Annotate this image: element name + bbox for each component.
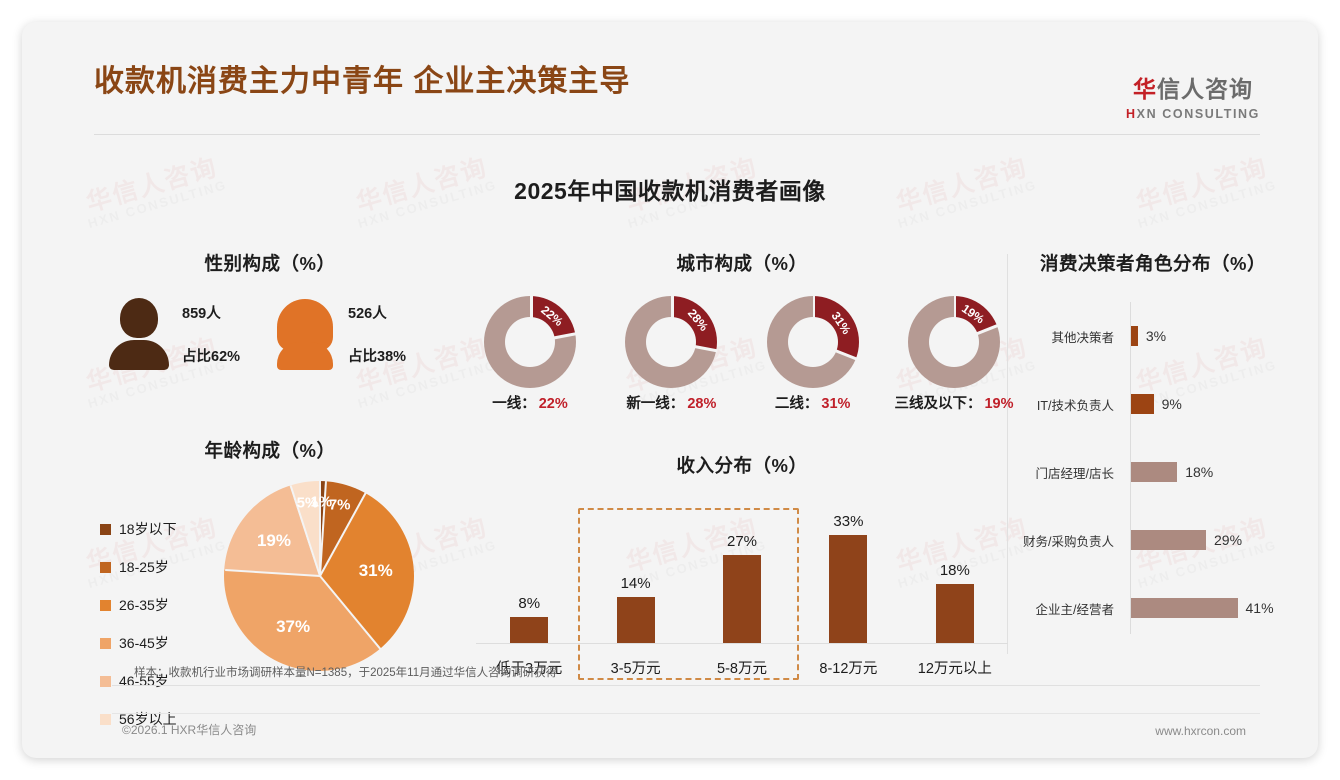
income-bar-value: 8% bbox=[518, 595, 540, 612]
legend-swatch bbox=[100, 638, 111, 649]
income-plot: 8%14%27%33%18% 低于3万元3-5万元5-8万元8-12万元12万元… bbox=[462, 500, 1022, 680]
donut-caption: 新一线：28% bbox=[607, 392, 735, 413]
footer-divider bbox=[112, 713, 1260, 714]
donut-caption-value: 22% bbox=[539, 396, 568, 412]
page-title: 收款机消费主力中青年 企业主决策主导 bbox=[94, 56, 630, 100]
role-value: 3% bbox=[1146, 328, 1166, 344]
roles-plot: 其他决策者3%IT/技术负责人9%门店经理/店长18%财务/采购负责人29%企业… bbox=[1022, 302, 1284, 642]
donut-chart: 28% bbox=[625, 296, 717, 388]
role-label: 企业主/经营者 bbox=[1022, 599, 1122, 618]
donut-caption-label: 新一线： bbox=[626, 396, 684, 412]
role-row: 企业主/经营者41% bbox=[1022, 574, 1284, 642]
gender-female-text: 526人 占比38% bbox=[348, 302, 406, 366]
donut-caption: 三线及以下：19% bbox=[890, 392, 1018, 413]
role-value: 9% bbox=[1162, 396, 1182, 412]
gender-male-count: 859人 bbox=[182, 302, 240, 323]
legend-swatch bbox=[100, 524, 111, 535]
role-row: 其他决策者3% bbox=[1022, 302, 1284, 370]
pie-slice-divider bbox=[225, 569, 320, 577]
income-bar bbox=[829, 535, 867, 643]
age-title: 年龄构成（%） bbox=[100, 437, 440, 463]
city-donut-item: 22%一线：22% bbox=[466, 296, 594, 413]
income-bar-column: 8% bbox=[476, 493, 582, 643]
income-bar-column: 27% bbox=[689, 493, 795, 643]
female-person-icon bbox=[274, 298, 336, 370]
role-label: IT/技术负责人 bbox=[1022, 395, 1122, 414]
logo-cn-red: 华 bbox=[1133, 76, 1157, 102]
legend-swatch bbox=[100, 562, 111, 573]
roles-panel: 消费决策者角色分布（%） 其他决策者3%IT/技术负责人9%门店经理/店长18%… bbox=[1022, 250, 1284, 642]
age-legend-item: 18-25岁 bbox=[100, 557, 218, 577]
roles-rows: 其他决策者3%IT/技术负责人9%门店经理/店长18%财务/采购负责人29%企业… bbox=[1022, 302, 1284, 642]
donut-chart: 22% bbox=[484, 296, 576, 388]
legend-swatch bbox=[100, 600, 111, 611]
donut-hole bbox=[505, 317, 555, 367]
city-title: 城市构成（%） bbox=[462, 250, 1022, 276]
roles-axis-line bbox=[1130, 302, 1131, 634]
city-donut-item: 28%新一线：28% bbox=[607, 296, 735, 413]
age-legend: 18岁以下18-25岁26-35岁36-45岁46-55岁56岁以上 bbox=[100, 481, 218, 747]
age-legend-label: 18-25岁 bbox=[119, 557, 169, 577]
age-pie-circle: 1%7%31%37%19%5% bbox=[224, 481, 414, 671]
income-bar-column: 14% bbox=[582, 493, 688, 643]
pie-slice-divider bbox=[319, 575, 381, 649]
donut-hole bbox=[929, 317, 979, 367]
gender-male-text: 859人 占比62% bbox=[182, 302, 240, 366]
role-bar bbox=[1130, 394, 1154, 414]
income-bar-column: 33% bbox=[795, 493, 901, 643]
donut-chart: 19% bbox=[908, 296, 1000, 388]
age-legend-item: 18岁以下 bbox=[100, 519, 218, 539]
role-bar-track: 18% bbox=[1122, 462, 1284, 482]
income-bar-value: 33% bbox=[833, 513, 863, 530]
gender-item-male: 859人 占比62% bbox=[108, 298, 274, 370]
income-bar bbox=[936, 584, 974, 643]
role-value: 18% bbox=[1185, 464, 1213, 480]
gender-panel: 性别构成（%） 859人 占比62% 526人 占 bbox=[100, 250, 440, 370]
donut-caption-value: 28% bbox=[687, 396, 716, 412]
male-person-icon bbox=[108, 298, 170, 370]
city-donut-item: 31%二线：31% bbox=[749, 296, 877, 413]
donut-caption: 二线：31% bbox=[749, 392, 877, 413]
roles-title: 消费决策者角色分布（%） bbox=[1022, 250, 1284, 276]
website-text: www.hxrcon.com bbox=[1155, 724, 1246, 738]
role-bar-track: 3% bbox=[1122, 326, 1284, 346]
donut-chart: 31% bbox=[767, 296, 859, 388]
income-bar bbox=[617, 597, 655, 643]
age-panel: 年龄构成（%） 18岁以下18-25岁26-35岁36-45岁46-55岁56岁… bbox=[100, 437, 440, 747]
gender-items: 859人 占比62% 526人 占比38% bbox=[100, 298, 440, 370]
pie-slice-label: 19% bbox=[257, 531, 291, 551]
income-bar-value: 27% bbox=[727, 533, 757, 550]
role-label: 财务/采购负责人 bbox=[1022, 531, 1122, 550]
logo-cn-rest: 信人咨询 bbox=[1157, 76, 1253, 102]
income-category-label: 5-8万元 bbox=[689, 657, 795, 678]
city-donut-row: 22%一线：22%28%新一线：28%31%二线：31%19%三线及以下：19% bbox=[462, 296, 1022, 413]
sample-note: 样本：收款机行业市场调研样本量N=1385，于2025年11月通过华信人咨询调研… bbox=[134, 664, 557, 680]
income-category-label: 8-12万元 bbox=[795, 657, 901, 678]
donut-caption-label: 三线及以下： bbox=[894, 396, 981, 412]
age-legend-item: 26-35岁 bbox=[100, 595, 218, 615]
donut-hole bbox=[788, 317, 838, 367]
logo-en-rest: XN CONSULTING bbox=[1137, 107, 1260, 121]
donut-caption-value: 19% bbox=[984, 396, 1013, 412]
pie-slice-label: 7% bbox=[329, 496, 351, 513]
donut-caption-label: 二线： bbox=[775, 396, 819, 412]
role-label: 其他决策者 bbox=[1022, 327, 1122, 346]
legend-swatch bbox=[100, 676, 111, 687]
city-panel: 城市构成（%） 22%一线：22%28%新一线：28%31%二线：31%19%三… bbox=[462, 250, 1022, 413]
age-pie-chart: 1%7%31%37%19%5% bbox=[224, 481, 414, 671]
income-panel: 收入分布（%） 8%14%27%33%18% 低于3万元3-5万元5-8万元8-… bbox=[462, 452, 1022, 680]
role-bar bbox=[1130, 462, 1177, 482]
role-row: 门店经理/店长18% bbox=[1022, 438, 1284, 506]
pie-slice-label: 37% bbox=[276, 617, 310, 637]
income-category-label: 12万元以上 bbox=[902, 657, 1008, 678]
age-legend-label: 26-35岁 bbox=[119, 595, 169, 615]
slide-canvas: 华信人咨询HXN CONSULTING华信人咨询HXN CONSULTING华信… bbox=[22, 22, 1318, 758]
header-divider bbox=[94, 134, 1260, 135]
role-bar bbox=[1130, 326, 1138, 346]
income-bar-column: 18% bbox=[902, 493, 1008, 643]
logo-en-red: H bbox=[1126, 107, 1137, 121]
city-donut-item: 19%三线及以下：19% bbox=[890, 296, 1018, 413]
role-bar bbox=[1130, 598, 1238, 618]
role-label: 门店经理/店长 bbox=[1022, 463, 1122, 482]
pie-slice-label: 5% bbox=[297, 494, 319, 511]
donut-hole bbox=[646, 317, 696, 367]
role-value: 29% bbox=[1214, 532, 1242, 548]
donut-caption: 一线：22% bbox=[466, 392, 594, 413]
logo-chinese: 华信人咨询 bbox=[1126, 70, 1260, 104]
donut-caption-label: 一线： bbox=[492, 396, 536, 412]
role-bar-track: 9% bbox=[1122, 394, 1284, 414]
slide-header: 收款机消费主力中青年 企业主决策主导 华信人咨询 HXN CONSULTING bbox=[22, 22, 1318, 130]
gender-female-count: 526人 bbox=[348, 302, 406, 323]
age-legend-label: 36-45岁 bbox=[119, 633, 169, 653]
gender-female-share: 占比38% bbox=[348, 345, 406, 366]
age-body: 18岁以下18-25岁26-35岁36-45岁46-55岁56岁以上 1%7%3… bbox=[100, 481, 440, 747]
age-legend-label: 18岁以下 bbox=[119, 519, 177, 539]
copyright-text: ©2026.1 HXR华信人咨询 bbox=[122, 721, 256, 738]
income-bar-value: 14% bbox=[621, 575, 651, 592]
role-bar bbox=[1130, 530, 1206, 550]
donut-caption-value: 31% bbox=[821, 396, 850, 412]
role-row: IT/技术负责人9% bbox=[1022, 370, 1284, 438]
gender-title: 性别构成（%） bbox=[100, 250, 440, 276]
role-value: 41% bbox=[1246, 600, 1274, 616]
logo-english: HXN CONSULTING bbox=[1126, 107, 1260, 121]
chart-subtitle: 2025年中国收款机消费者画像 bbox=[22, 172, 1318, 206]
role-bar-track: 41% bbox=[1122, 598, 1284, 618]
income-bar bbox=[510, 617, 548, 643]
income-bar-value: 18% bbox=[940, 562, 970, 579]
income-baseline bbox=[476, 643, 1008, 644]
gender-male-share: 占比62% bbox=[182, 345, 240, 366]
gender-item-female: 526人 占比38% bbox=[274, 298, 440, 370]
role-bar-track: 29% bbox=[1122, 530, 1284, 550]
income-bar bbox=[723, 555, 761, 644]
pie-slice-label: 31% bbox=[359, 561, 393, 581]
income-title: 收入分布（%） bbox=[462, 452, 1022, 478]
role-row: 财务/采购负责人29% bbox=[1022, 506, 1284, 574]
legend-swatch bbox=[100, 714, 111, 725]
age-legend-item: 36-45岁 bbox=[100, 633, 218, 653]
income-category-label: 3-5万元 bbox=[582, 657, 688, 678]
sample-divider bbox=[112, 685, 1260, 686]
brand-logo: 华信人咨询 HXN CONSULTING bbox=[1126, 70, 1260, 121]
income-bars: 8%14%27%33%18% bbox=[476, 493, 1008, 643]
